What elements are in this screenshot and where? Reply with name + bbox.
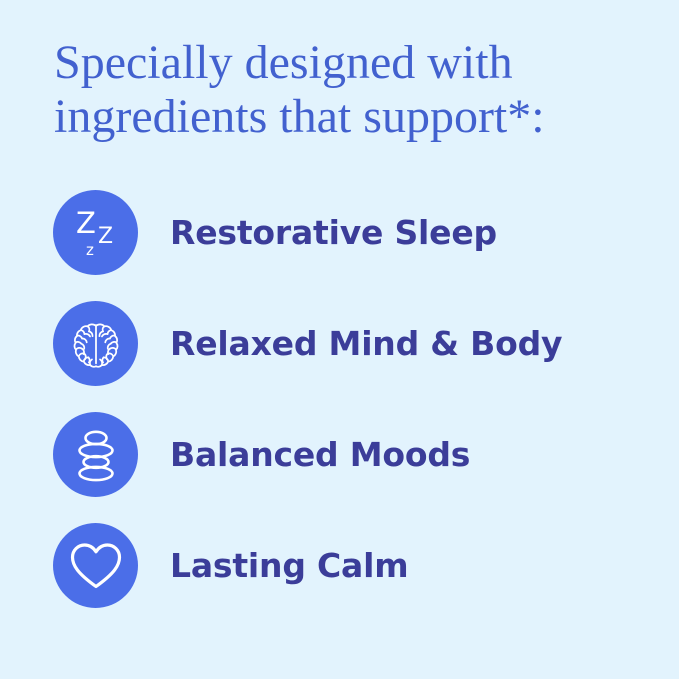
stacked-stones-icon: [53, 412, 138, 497]
zzz-glyph-medium: Z: [98, 224, 113, 249]
zzz-glyph-small: z: [86, 241, 94, 259]
list-item: Lasting Calm: [0, 523, 679, 608]
list-item: Relaxed Mind & Body: [0, 301, 679, 386]
brain-icon: [53, 301, 138, 386]
sleep-zzz-icon: Z Z z: [53, 190, 138, 275]
heart-icon: [53, 523, 138, 608]
benefit-label: Balanced Moods: [170, 437, 470, 473]
promo-card: Specially designed with ingredients that…: [0, 0, 679, 679]
benefit-list: Z Z z Restorative Sleep: [0, 190, 679, 608]
benefit-label: Lasting Calm: [170, 548, 408, 584]
zzz-glyph-big: Z: [76, 206, 96, 240]
page-title: Specially designed with ingredients that…: [54, 36, 634, 144]
list-item: Z Z z Restorative Sleep: [0, 190, 679, 275]
list-item: Balanced Moods: [0, 412, 679, 497]
benefit-label: Relaxed Mind & Body: [170, 326, 562, 362]
benefit-label: Restorative Sleep: [170, 215, 497, 251]
